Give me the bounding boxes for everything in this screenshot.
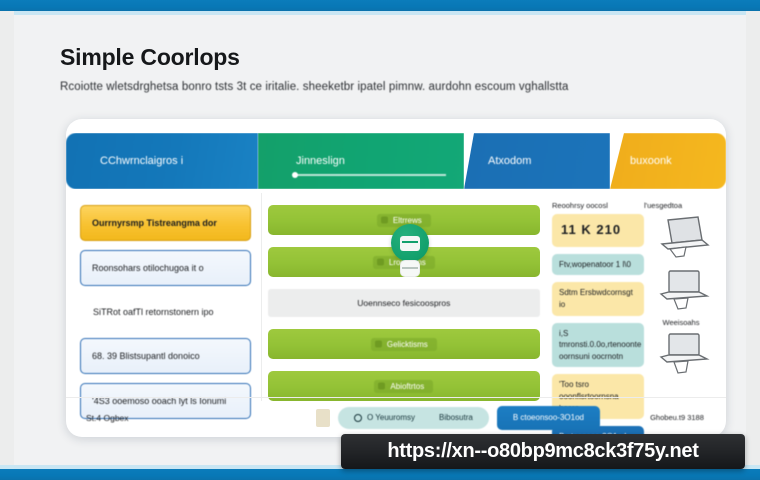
right-gutter [746,11,760,469]
left-item-label: Ourrnyrsmp Tistreangma dor [92,218,217,228]
list-item: SiTRot oafTl retornstonern ipo [80,295,251,329]
left-item-label: SiTRot oafTl retornstonern ipo [93,307,214,317]
page-subtitle: Rcoiotte wletsdrghetsa bonro tsts 3t ce … [60,81,720,93]
metric-card: Sdtm Ersbwdcornsgt io [552,282,644,315]
footer-pill-item-2: Bibosutra [439,413,473,422]
gray-row: Uoennseco fesicoospros [268,289,540,317]
ribbon-segment-3-label: Atxodom [488,155,531,167]
metric-card: 11 K 210 [552,214,644,247]
right-column-headers: Reoohrsy oocosl l'uesgedtoa [552,193,718,214]
footer-primary-button[interactable]: B ctoeonsoo-3O1od [497,406,600,430]
left-gutter [0,11,14,469]
right-column: Reoohrsy oocosl l'uesgedtoa 11 K 210 Ftv… [546,193,726,401]
ribbon-segment-1[interactable]: CChwrnclaigros i [66,133,258,189]
radio-icon [354,414,362,422]
ribbon-segment-2-label: Jinneslign [296,155,345,167]
metric-value: Sdtm Ersbwdcornsgt io [559,288,633,309]
header-ribbon: CChwrnclaigros i Jinneslign Atxodom buxo… [66,133,726,189]
metric-value: Ftv,wopenatoor 1 l\0 [559,260,631,269]
metric-card: i,S tmronsti.0.0o,rtenoonte oornsuni ooc… [552,323,644,368]
right-header-2: l'uesgedtoa [644,201,714,210]
url-banner: https://xn--o80bp9mc8ck3f75y.net [341,434,745,469]
list-item[interactable]: Roonsohars otilochugoa it o [80,250,251,286]
content-sheet: Simple Coorlops Rcoiotte wletsdrghetsa b… [14,15,746,465]
top-accent-bar [0,0,760,11]
gray-row-label: Uoennseco fesicoospros [357,298,450,308]
card-icon-glyph [400,236,420,251]
ribbon-progress-rule [296,174,446,176]
url-text: https://xn--o80bp9mc8ck3f75y.net [387,440,698,463]
left-column: Ourrnyrsmp Tistreangma dor Roonsohars ot… [66,193,261,401]
left-item-label: Roonsohars otilochugoa it o [92,263,204,273]
card-icon [391,224,429,262]
metric-card: Ftv,wopenatoor 1 l\0 [552,254,644,276]
footer-button-label: B ctoeonsoo-3O1od [513,413,584,422]
badge-pill-icon [400,260,420,277]
ribbon-segment-4-label: buxoonk [630,155,672,167]
metric-value: i,S tmronsti.0.0o,rtenoonte oornsuni ooc… [559,329,641,361]
ribbon-segment-1-label: CChwrnclaigros i [100,155,183,167]
bottom-accent-bar [0,469,760,480]
page-root: Simple Coorlops Rcoiotte wletsdrghetsa b… [0,0,760,480]
page-title: Simple Coorlops [60,45,720,70]
laptop-icon [652,331,710,377]
progress-bar-row[interactable]: Gelicktisms [268,329,540,359]
icon-label: Weeisoahs [644,318,718,327]
heading-block: Simple Coorlops Rcoiotte wletsdrghetsa b… [60,45,720,93]
laptop-icon [652,266,710,312]
footer-pill[interactable]: O Yeuuromsy Bibosutra [338,407,489,429]
footer-left-text: St.4 Ogbex [86,413,316,423]
bar-chip-label: Abioftrtos [374,380,433,393]
list-item[interactable]: 68. 39 Blistsupantl donoico [80,338,251,374]
footer-pill-item-1: O Yeuuromsy [354,413,415,422]
bar-chip-label: Gelicktisms [371,338,437,351]
columns-area: Ourrnyrsmp Tistreangma dor Roonsohars ot… [66,193,726,401]
list-item[interactable]: Ourrnyrsmp Tistreangma dor [80,205,251,241]
ribbon-segment-3[interactable]: Atxodom [464,133,610,189]
ribbon-segment-4[interactable]: buxoonk [610,133,726,189]
footer-right-text: Ghobeu.t9 3188 [640,413,714,423]
card-footer: St.4 Ogbex O Yeuuromsy Bibosutra B ctoeo… [66,397,726,437]
laptop-icon [652,214,710,260]
main-card: CChwrnclaigros i Jinneslign Atxodom buxo… [66,119,726,437]
footer-actions: O Yeuuromsy Bibosutra B ctoeonsoo-3O1od [316,406,640,430]
ribbon-segment-2[interactable]: Jinneslign [258,133,464,189]
metric-value: 11 K 210 [561,222,621,237]
left-item-label: 68. 39 Blistsupantl donoico [92,351,200,361]
footer-swatch [316,409,330,427]
right-header-1: Reoohrsy oocosl [552,201,644,210]
